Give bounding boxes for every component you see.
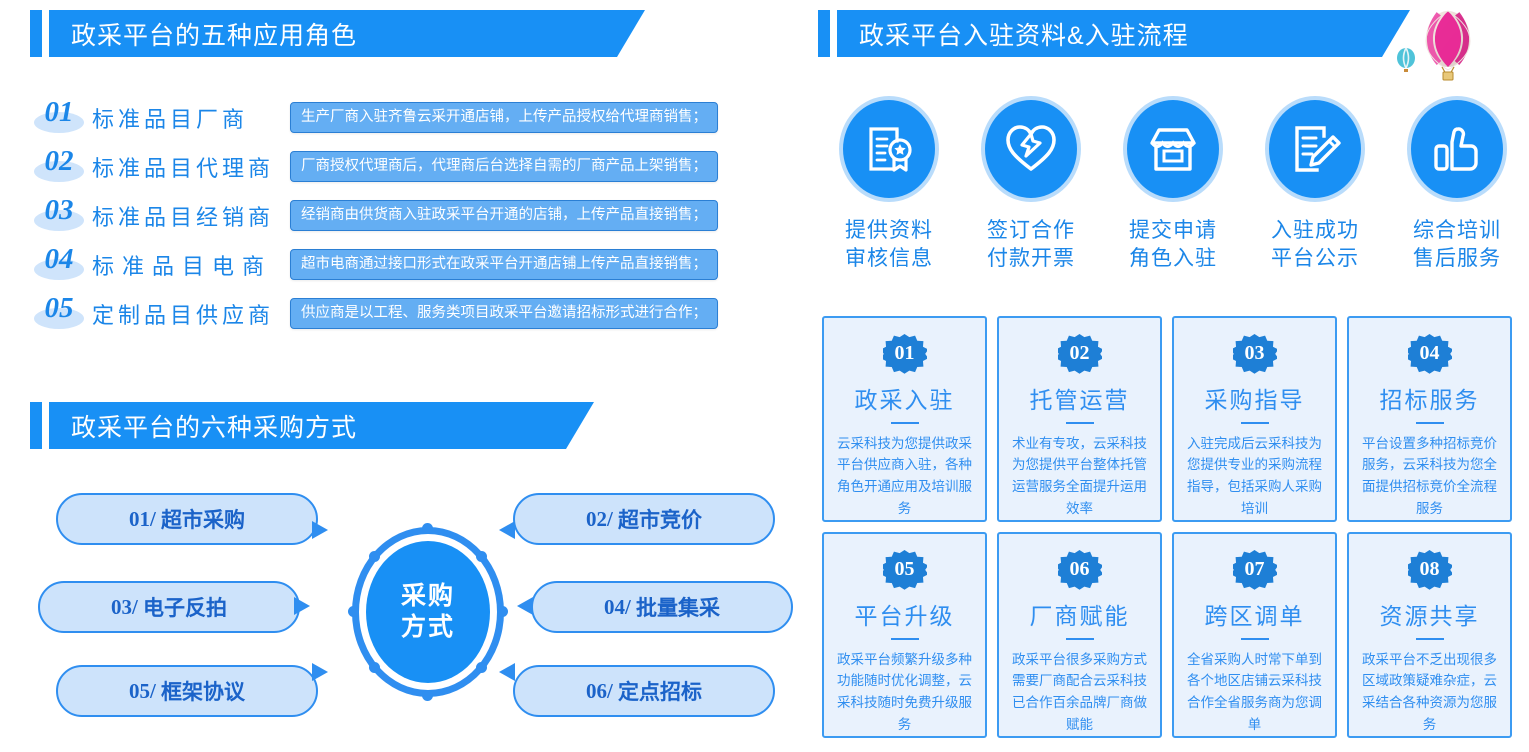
card-title: 平台升级 [855,597,955,631]
step-label: 入驻成功 平台公示 [1271,217,1359,272]
role-title: 标准品目厂商 [92,102,290,134]
method-label: 批量集采 [636,592,720,622]
service-card[interactable]: 05 平台升级 政采平台频繁升级多种功能随时优化调整，云采科技随时免费升级服务 [822,532,987,738]
wheel-hub: 采购 方式 [352,527,504,697]
role-description: 供应商是以工程、服务类项目政采平台邀请招标形式进行合作； [290,298,718,330]
card-body: 云采科技为您提供政采平台供应商入驻，各种角色开通应用及培训服务 [824,433,985,520]
card-title: 跨区调单 [1205,597,1305,631]
service-cards-grid: 01 政采入驻 云采科技为您提供政采平台供应商入驻，各种角色开通应用及培训服务 … [822,316,1522,746]
role-description: 超市电商通过接口形式在政采平台开通店铺上传产品直接销售； [290,249,718,281]
card-title: 厂商赋能 [1030,597,1130,631]
method-pill-05[interactable]: 05/ 框架协议 [56,665,318,717]
card-title: 资源共享 [1380,597,1480,631]
handshake-heart-icon [1004,123,1058,175]
role-description: 厂商授权代理商后，代理商后台选择自需的厂商产品上架销售； [290,151,718,183]
step-circle [1123,96,1223,202]
card-divider [891,422,919,424]
card-body: 政采平台频繁升级多种功能随时优化调整，云采科技随时免费升级服务 [824,649,985,736]
onboarding-step: 提供资料 审核信息 [818,96,960,296]
onboarding-header-title: 政采平台入驻资料&入驻流程 [837,10,1410,57]
method-number: 03/ [111,595,138,620]
roles-list: 01 标准品目厂商 生产厂商入驻齐鲁云采开通店铺，上传产品授权给代理商销售； 0… [30,93,790,338]
role-description: 生产厂商入驻齐鲁云采开通店铺，上传产品授权给代理商销售； [290,102,718,134]
method-pill-tail-01 [312,521,328,539]
card-divider [1241,422,1269,424]
step-label-line1: 提供资料 [845,217,933,245]
hub-core: 采购 方式 [366,541,490,683]
card-title: 政采入驻 [855,381,955,415]
service-card[interactable]: 07 跨区调单 全省采购人时常下单到各个地区店铺云采科技合作全省服务商为您调单 [1172,532,1337,738]
step-label: 综合培训 售后服务 [1413,217,1501,272]
hub-line-1: 采购 [401,581,455,612]
card-divider [1416,638,1444,640]
method-pill-tail-02 [499,521,515,539]
card-number-badge: 08 [1408,550,1452,590]
role-title: 标准品目代理商 [92,151,290,183]
card-divider [1066,638,1094,640]
hub-dot-icon [497,606,508,617]
card-divider [1241,638,1269,640]
card-body: 政采平台很多采购方式需要厂商配合云采科技已合作百余品牌厂商做赋能 [999,649,1160,736]
methods-header-title: 政采平台的六种采购方式 [49,402,594,449]
thumbs-up-icon [1431,124,1483,174]
role-number-badge: 01 [30,98,88,138]
hub-dot-icon [476,662,487,673]
hub-dot-icon [476,551,487,562]
onboarding-step: 提交申请 角色入驻 [1102,96,1244,296]
card-body: 术业有专攻，云采科技为您提供平台整体托管运营服务全面提升运用效率 [999,433,1160,520]
service-card[interactable]: 02 托管运营 术业有专攻，云采科技为您提供平台整体托管运营服务全面提升运用效率 [997,316,1162,522]
card-divider [1066,422,1094,424]
role-row: 01 标准品目厂商 生产厂商入驻齐鲁云采开通店铺，上传产品授权给代理商销售； [30,93,790,142]
service-card[interactable]: 04 招标服务 平台设置多种招标竞价服务，云采科技为您全面提供招标竞价全流程服务 [1347,316,1512,522]
storefront-icon [1146,125,1200,173]
method-number: 02/ [586,507,613,532]
onboarding-step: 入驻成功 平台公示 [1244,96,1386,296]
card-body: 政采平台不乏出现很多区域政策疑难杂症，云采结合各种资源为您服务 [1349,649,1510,736]
step-circle [1265,96,1365,202]
method-label: 超市采购 [161,504,245,534]
card-body: 平台设置多种招标竞价服务，云采科技为您全面提供招标竞价全流程服务 [1349,433,1510,520]
method-number: 01/ [129,507,156,532]
service-card[interactable]: 06 厂商赋能 政采平台很多采购方式需要厂商配合云采科技已合作百余品牌厂商做赋能 [997,532,1162,738]
method-pill-01[interactable]: 01/ 超市采购 [56,493,318,545]
role-number-badge: 03 [30,196,88,236]
header-accent-bar [818,10,830,57]
method-pill-tail-05 [312,663,328,681]
method-label: 框架协议 [161,676,245,706]
document-edit-icon [1289,123,1341,175]
role-number: 04 [30,243,88,276]
method-number: 05/ [129,679,156,704]
card-title: 托管运营 [1030,381,1130,415]
hub-dot-icon [348,606,359,617]
role-number-badge: 04 [30,245,88,285]
step-label-line2: 审核信息 [845,245,933,273]
step-label-line2: 平台公示 [1271,245,1359,273]
onboarding-step: 综合培训 售后服务 [1386,96,1528,296]
method-pill-06[interactable]: 06/ 定点招标 [513,665,775,717]
hub-dot-icon [422,523,433,534]
roles-section-header: 政采平台的五种应用角色 [30,10,645,57]
service-card[interactable]: 01 政采入驻 云采科技为您提供政采平台供应商入驻，各种角色开通应用及培训服务 [822,316,987,522]
role-row: 02 标准品目代理商 厂商授权代理商后，代理商后台选择自需的厂商产品上架销售； [30,142,790,191]
method-number: 06/ [586,679,613,704]
card-number-badge: 02 [1058,334,1102,374]
role-number: 01 [30,96,88,129]
card-number-badge: 05 [883,550,927,590]
role-number-badge: 05 [30,294,88,334]
certificate-icon [863,123,915,175]
step-circle [981,96,1081,202]
procurement-methods-wheel: 采购 方式 01/ 超市采购 02/ 超市竞价 03/ 电子反拍 [30,487,810,722]
hub-dot-icon [369,662,380,673]
hub-dot-icon [369,551,380,562]
card-title: 采购指导 [1205,381,1305,415]
header-accent-bar [30,10,42,57]
service-card[interactable]: 03 采购指导 入驻完成后云采科技为您提供专业的采购流程指导，包括采购人采购培训 [1172,316,1337,522]
step-circle [1407,96,1507,202]
card-number-badge: 01 [883,334,927,374]
role-title: 标准品目电商 [92,249,290,281]
header-accent-bar [30,402,42,449]
method-label: 超市竞价 [618,504,702,534]
method-pill-tail-04 [517,597,533,615]
role-title: 定制品目供应商 [92,298,290,330]
step-label-line2: 售后服务 [1413,245,1501,273]
card-body: 入驻完成后云采科技为您提供专业的采购流程指导，包括采购人采购培训 [1174,433,1335,520]
card-divider [1416,422,1444,424]
role-row: 03 标准品目经销商 经销商由供货商入驻政采平台开通的店铺，上传产品直接销售； [30,191,790,240]
step-label-line1: 入驻成功 [1271,217,1359,245]
role-description: 经销商由供货商入驻政采平台开通的店铺，上传产品直接销售； [290,200,718,232]
role-number: 03 [30,194,88,227]
method-label: 定点招标 [618,676,702,706]
step-label-line2: 角色入驻 [1129,245,1217,273]
method-pill-tail-06 [499,663,515,681]
method-pill-04[interactable]: 04/ 批量集采 [531,581,793,633]
role-row: 04 标准品目电商 超市电商通过接口形式在政采平台开通店铺上传产品直接销售； [30,240,790,289]
card-body: 全省采购人时常下单到各个地区店铺云采科技合作全省服务商为您调单 [1174,649,1335,736]
onboarding-steps: 提供资料 审核信息 签订合作 付款开票 [818,96,1529,296]
step-label-line1: 提交申请 [1129,217,1217,245]
hub-line-2: 方式 [401,612,455,643]
method-number: 04/ [604,595,631,620]
methods-section-header: 政采平台的六种采购方式 [30,402,594,449]
role-row: 05 定制品目供应商 供应商是以工程、服务类项目政采平台邀请招标形式进行合作； [30,289,790,338]
step-label-line2: 付款开票 [987,245,1075,273]
step-circle [839,96,939,202]
method-label: 电子反拍 [143,592,227,622]
role-number: 02 [30,145,88,178]
service-card[interactable]: 08 资源共享 政采平台不乏出现很多区域政策疑难杂症，云采结合各种资源为您服务 [1347,532,1512,738]
card-title: 招标服务 [1380,381,1480,415]
step-label-line1: 综合培训 [1413,217,1501,245]
role-number-badge: 02 [30,147,88,187]
method-pill-02[interactable]: 02/ 超市竞价 [513,493,775,545]
step-label: 提供资料 审核信息 [845,217,933,272]
step-label-line1: 签订合作 [987,217,1075,245]
hub-dot-icon [422,690,433,701]
method-pill-tail-03 [294,597,310,615]
step-label: 提交申请 角色入驻 [1129,217,1217,272]
infographic-page: 政采平台的五种应用角色 01 标准品目厂商 生产厂商入驻齐鲁云采开通店铺，上传产… [0,0,1529,752]
onboarding-step: 签订合作 付款开票 [960,96,1102,296]
roles-header-title: 政采平台的五种应用角色 [49,10,645,57]
role-number: 05 [30,292,88,325]
card-divider [891,638,919,640]
card-number-badge: 06 [1058,550,1102,590]
card-number-badge: 04 [1408,334,1452,374]
method-pill-03[interactable]: 03/ 电子反拍 [38,581,300,633]
onboarding-section-header: 政采平台入驻资料&入驻流程 [818,10,1410,57]
role-title: 标准品目经销商 [92,200,290,232]
step-label: 签订合作 付款开票 [987,217,1075,272]
hot-air-balloon-icon [1392,6,1484,84]
card-number-badge: 07 [1233,550,1277,590]
card-number-badge: 03 [1233,334,1277,374]
